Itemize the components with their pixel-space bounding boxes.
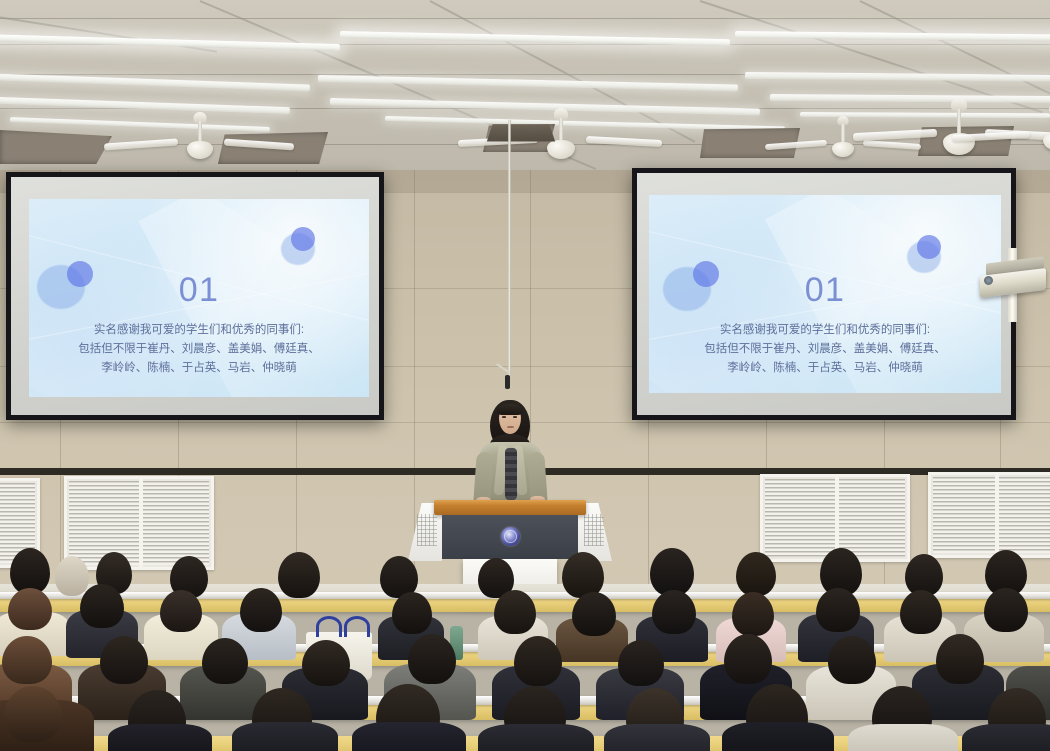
audience-head xyxy=(80,584,124,628)
audience-head xyxy=(278,552,320,598)
ceiling-light xyxy=(0,73,310,92)
right-projection-screen: 01 实名感谢我可爱的学生们和优秀的同事们: 包括但不限于崔丹、刘晨彦、盖美娟、… xyxy=(632,168,1016,420)
hanging-microphone-pole xyxy=(508,120,511,380)
microphone-head xyxy=(505,375,510,389)
university-crest xyxy=(501,527,520,546)
audience-head xyxy=(100,636,148,684)
bag-handle xyxy=(344,616,370,637)
slide-text: 实名感谢我可爱的学生们和优秀的同事们: 包括但不限于崔丹、刘晨彦、盖美娟、傅廷真… xyxy=(29,321,369,378)
ceiling-mic-mount xyxy=(487,124,555,141)
audience-head xyxy=(732,592,774,636)
ceiling-fan xyxy=(1000,104,1050,162)
audience-head xyxy=(2,636,52,684)
audience-head xyxy=(514,636,562,686)
wall-hvac-grille xyxy=(928,472,1050,558)
slide-text-line-2: 包括但不限于崔丹、刘晨彦、盖美娟、傅廷真、 xyxy=(29,340,369,359)
decorative-circle xyxy=(291,227,315,251)
ceiling-light xyxy=(745,72,1050,82)
audience-head xyxy=(392,592,432,634)
lectern-desktop xyxy=(434,500,586,515)
slide-text-line-1: 实名感谢我可爱的学生们和优秀的同事们: xyxy=(649,321,1001,340)
audience-body xyxy=(962,724,1050,751)
audience-body xyxy=(604,724,710,751)
ceiling-light xyxy=(0,34,340,51)
ceiling-vent xyxy=(0,130,112,164)
ceiling-light xyxy=(735,31,1050,42)
audience-body xyxy=(352,722,466,751)
audience-head xyxy=(160,590,202,632)
audience-body xyxy=(848,724,958,751)
lectern-speaker-grille xyxy=(417,514,437,546)
audience-head xyxy=(202,638,248,684)
right-slide: 01 实名感谢我可爱的学生们和优秀的同事们: 包括但不限于崔丹、刘晨彦、盖美娟、… xyxy=(649,195,1001,393)
decorative-circle xyxy=(917,235,941,259)
audience-head xyxy=(984,588,1028,632)
audience-head xyxy=(572,592,616,636)
audience-head xyxy=(816,588,860,632)
audience-head xyxy=(724,634,772,684)
audience-head xyxy=(4,686,62,742)
ceiling-projector xyxy=(966,248,1050,322)
audience-body xyxy=(478,724,594,751)
audience-head xyxy=(240,588,282,632)
audience-head xyxy=(408,634,456,684)
ceiling-light xyxy=(318,75,738,92)
ceiling-fan xyxy=(140,112,260,170)
bag-handle xyxy=(316,616,342,637)
audience-head xyxy=(650,548,694,596)
lecture-hall-photo: 01 实名感谢我可爱的学生们和优秀的同事们: 包括但不限于崔丹、刘晨彦、盖美娟、… xyxy=(0,0,1050,751)
slide-text-line-3: 李岭岭、陈楠、于占英、马岩、仲晓萌 xyxy=(649,359,1001,378)
audience-head xyxy=(618,640,664,686)
slide-number: 01 xyxy=(649,271,1001,310)
audience-head xyxy=(828,636,876,684)
audience-head xyxy=(55,556,89,596)
audience-body xyxy=(108,724,212,751)
audience-head xyxy=(652,590,696,634)
audience-head xyxy=(302,640,350,686)
audience-body xyxy=(232,722,338,751)
audience-head xyxy=(8,588,52,630)
slide-text-line-1: 实名感谢我可爱的学生们和优秀的同事们: xyxy=(29,321,369,340)
audience-head xyxy=(562,552,604,598)
slide-number: 01 xyxy=(29,271,369,310)
slide-text-line-2: 包括但不限于崔丹、刘晨彦、盖美娟、傅廷真、 xyxy=(649,340,1001,359)
audience-head xyxy=(736,552,776,596)
audience-head xyxy=(494,590,536,634)
audience-head xyxy=(900,590,942,634)
left-projection-screen: 01 实名感谢我可爱的学生们和优秀的同事们: 包括但不限于崔丹、刘晨彦、盖美娟、… xyxy=(6,172,384,420)
slide-text-line-3: 李岭岭、陈楠、于占英、马岩、仲晓萌 xyxy=(29,359,369,378)
ceiling-fan xyxy=(795,116,891,168)
left-slide: 01 实名感谢我可爱的学生们和优秀的同事们: 包括但不限于崔丹、刘晨彦、盖美娟、… xyxy=(29,199,369,397)
lectern-speaker-grille xyxy=(584,514,604,546)
audience-head xyxy=(936,634,984,684)
audience-body xyxy=(722,722,834,751)
slide-text: 实名感谢我可爱的学生们和优秀的同事们: 包括但不限于崔丹、刘晨彦、盖美娟、傅廷真… xyxy=(649,321,1001,378)
